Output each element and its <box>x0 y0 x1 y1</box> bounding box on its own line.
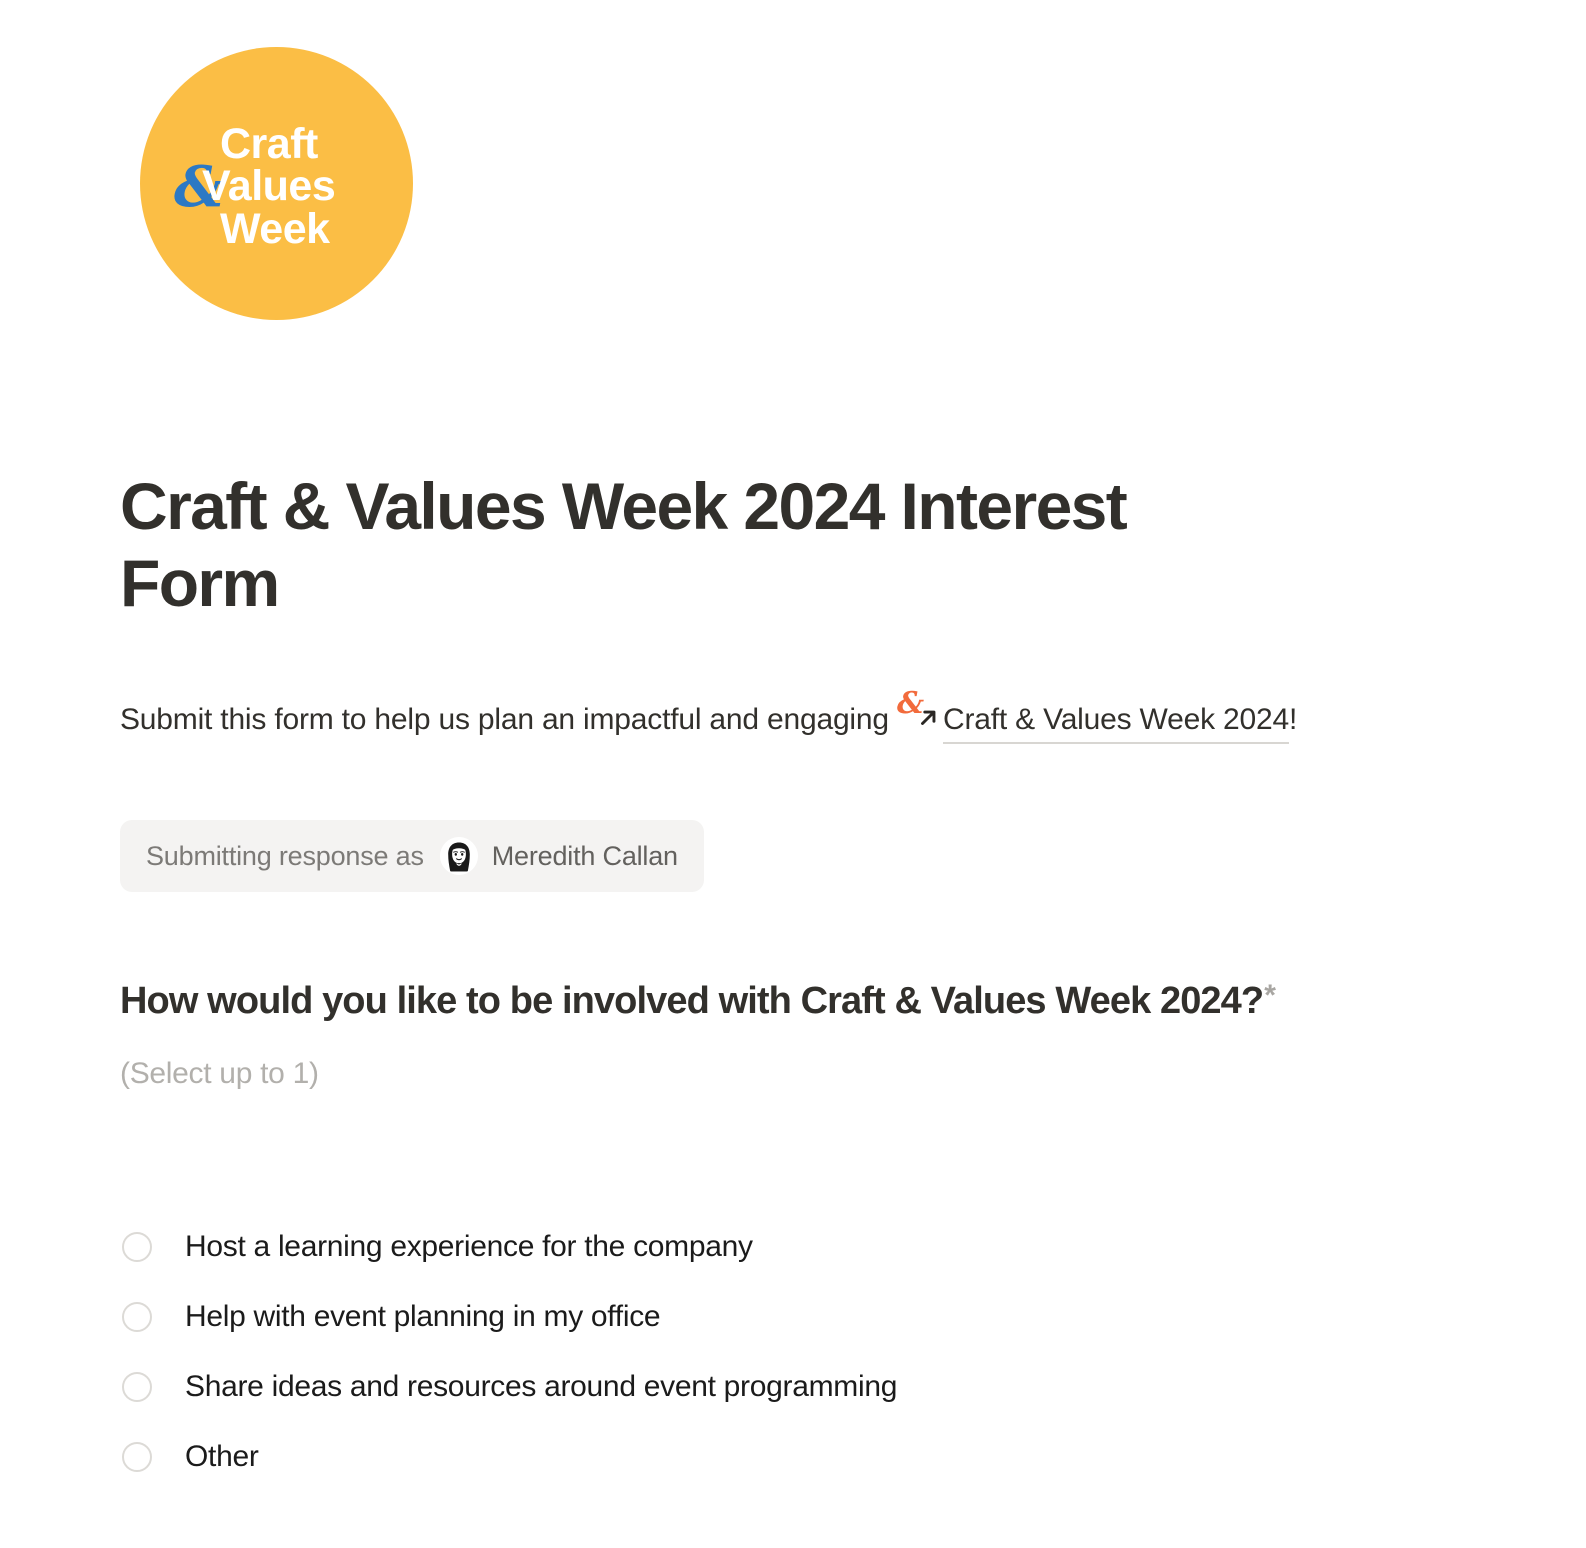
option-row[interactable]: Other <box>120 1422 1440 1492</box>
arrow-up-right-icon <box>917 707 939 729</box>
logo-line-craft: Craft <box>220 123 318 166</box>
radio-icon[interactable] <box>122 1302 152 1332</box>
logo-line-week: Week <box>220 208 330 251</box>
craft-values-week-logo: Craft & Values Week <box>140 47 413 320</box>
required-asterisk: * <box>1264 979 1275 1012</box>
logo-text-group: Craft & Values Week <box>140 47 413 320</box>
option-row[interactable]: Help with event planning in my office <box>120 1282 1440 1352</box>
mention-link-icon: & <box>897 705 941 731</box>
options-group: Host a learning experience for the compa… <box>120 1212 1440 1492</box>
submitting-response-as-label: Submitting response as <box>146 841 424 872</box>
question-title-text: How would you like to be involved with C… <box>120 980 1263 1022</box>
form-page: Craft & Values Week Craft & Values Week … <box>0 0 1586 1548</box>
submitting-response-as-banner: Submitting response as Meredith Cal <box>120 820 704 892</box>
logo-circle: Craft & Values Week <box>140 47 413 320</box>
option-row[interactable]: Host a learning experience for the compa… <box>120 1212 1440 1282</box>
avatar <box>440 837 478 875</box>
question-title: How would you like to be involved with C… <box>120 975 1440 1027</box>
radio-icon[interactable] <box>122 1232 152 1262</box>
description-text-after: ! <box>1289 703 1297 736</box>
radio-icon[interactable] <box>122 1372 152 1402</box>
option-row[interactable]: Share ideas and resources around event p… <box>120 1352 1440 1422</box>
page-title: Craft & Values Week 2024 Interest Form <box>120 468 1300 622</box>
craft-values-week-link[interactable]: Craft & Values Week 2024 <box>943 703 1289 744</box>
question-block: How would you like to be involved with C… <box>120 975 1440 1091</box>
question-hint: (Select up to 1) <box>120 1057 1440 1091</box>
radio-icon[interactable] <box>122 1442 152 1472</box>
form-description: Submit this form to help us plan an impa… <box>120 692 1370 748</box>
logo-line-values: Values <box>202 165 335 208</box>
option-label: Other <box>185 1440 259 1474</box>
submitting-response-as-name: Meredith Callan <box>492 841 678 872</box>
user-avatar-portrait-icon <box>440 837 478 875</box>
description-text-before: Submit this form to help us plan an impa… <box>120 703 897 736</box>
option-label: Share ideas and resources around event p… <box>185 1370 897 1404</box>
option-label: Help with event planning in my office <box>185 1300 660 1334</box>
option-label: Host a learning experience for the compa… <box>185 1230 753 1264</box>
